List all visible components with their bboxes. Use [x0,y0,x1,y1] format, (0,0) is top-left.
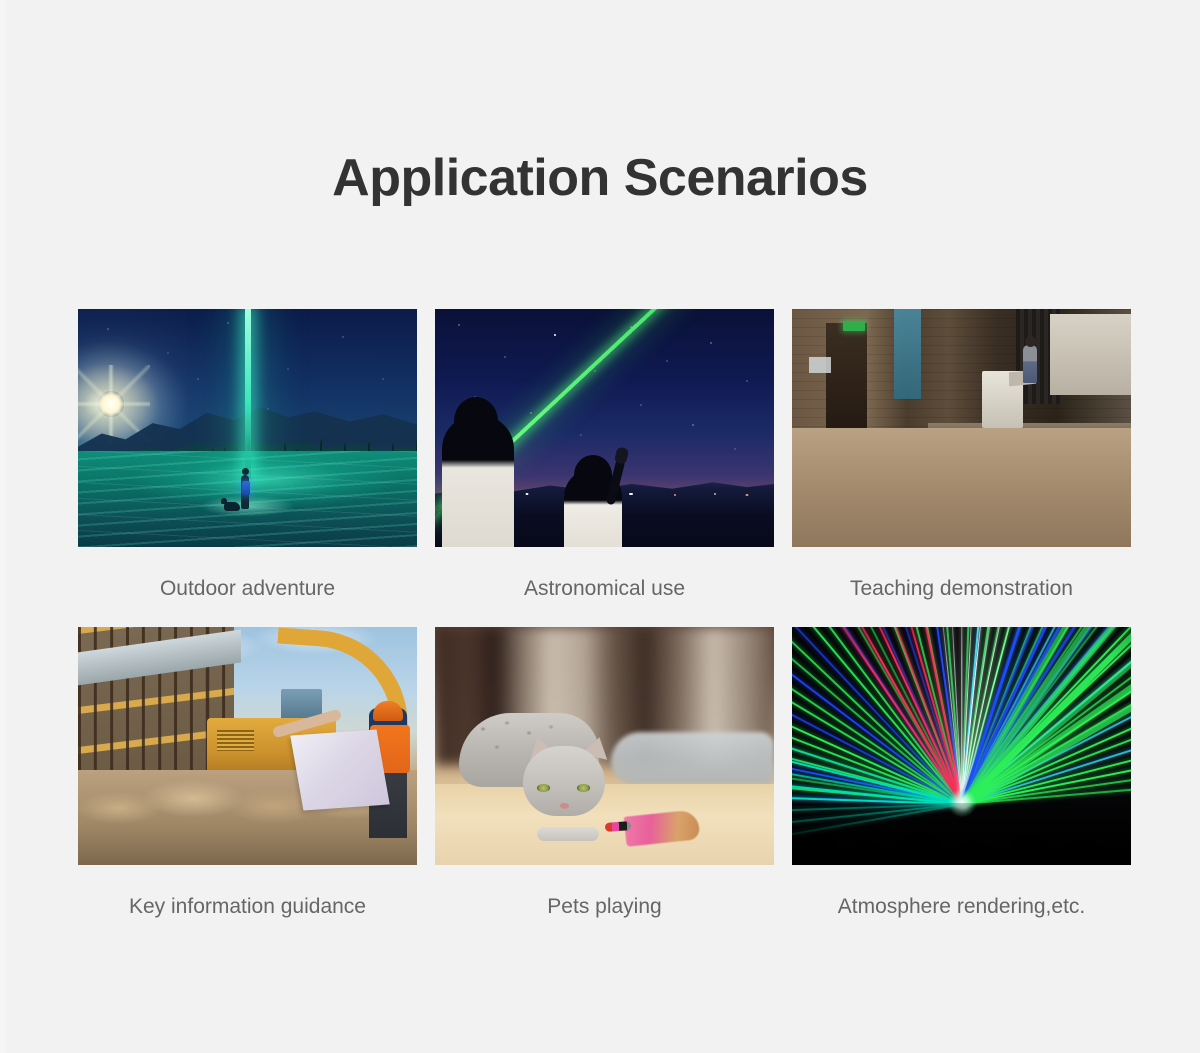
scenario-caption: Atmosphere rendering,etc. [792,865,1131,945]
scenario-image-astronomical-use[interactable] [435,309,774,547]
scenario-image-teaching-demonstration[interactable] [792,309,1131,547]
person-silhouette-adult [442,415,514,547]
scenario-card-astronomical-use[interactable]: Astronomical use [435,309,774,627]
pet-bed [611,732,774,784]
cat-illustration [435,627,774,865]
scenario-caption: Pets playing [435,865,774,945]
scenario-caption: Teaching demonstration [792,547,1131,627]
person-silhouette [241,475,249,509]
construction-site-illustration [78,627,417,865]
projection-screen [1050,314,1131,395]
speaker-figure [1023,345,1037,383]
scenario-image-key-information-guidance[interactable] [78,627,417,865]
exit-sign-icon [843,321,865,331]
scenario-caption: Outdoor adventure [78,547,417,627]
starry-sky-illustration [435,309,774,547]
scenario-row-1: Outdoor adventure Astronomical use [78,309,1132,627]
application-scenarios-page: Application Scenarios [0,0,1200,1053]
scenario-card-atmosphere-rendering[interactable]: Atmosphere rendering,etc. [792,627,1131,945]
scenario-card-outdoor-adventure[interactable]: Outdoor adventure [78,309,417,627]
scenario-grid: Outdoor adventure Astronomical use [78,309,1132,945]
scenario-image-pets-playing[interactable] [435,627,774,865]
audience-heads [792,428,1131,547]
scenario-card-key-information-guidance[interactable]: Key information guidance [78,627,417,945]
laser-show-illustration [792,627,1131,865]
night-lake-illustration [78,309,417,547]
lecture-hall-illustration [792,309,1131,547]
door-shape [826,323,867,432]
moon-icon [98,391,124,417]
scenario-caption: Astronomical use [435,547,774,627]
excavator-grille [217,730,254,751]
scenario-row-2: Key information guidance [78,627,1132,945]
crowd-silhouettes [792,803,1131,865]
cat-paws [537,827,599,841]
scenario-caption: Key information guidance [78,865,417,945]
scenario-image-outdoor-adventure[interactable] [78,309,417,547]
page-title: Application Scenarios [0,147,1200,209]
scenario-card-teaching-demonstration[interactable]: Teaching demonstration [792,309,1131,627]
dog-silhouette [224,502,240,511]
scenario-card-pets-playing[interactable]: Pets playing [435,627,774,945]
green-laser-beam-vertical [245,309,251,479]
blue-wall-panel [894,309,921,399]
blueprint-sheet [290,729,389,810]
wall-notice [809,357,831,373]
scenario-image-atmosphere-rendering[interactable] [792,627,1131,865]
